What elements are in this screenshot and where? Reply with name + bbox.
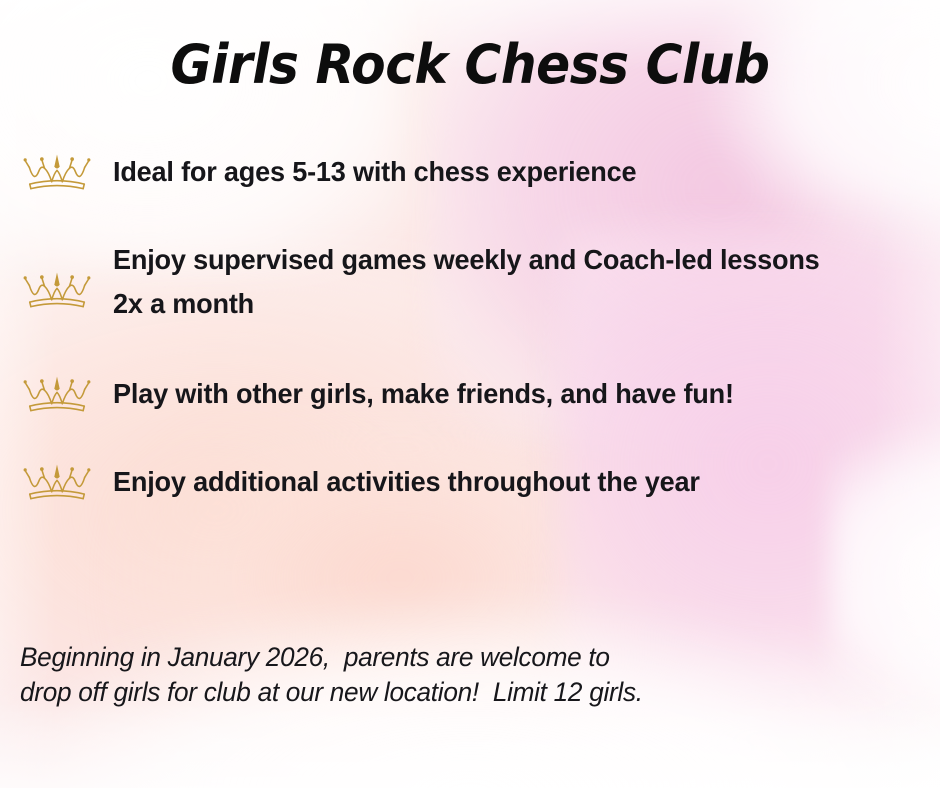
flyer-canvas: Girls Rock Chess Club [0, 0, 940, 788]
crown-icon [0, 372, 113, 422]
crown-icon [0, 460, 113, 510]
list-item: Enjoy supervised games weekly and Coach-… [0, 238, 920, 326]
crown-icon [0, 150, 113, 200]
flyer-content: Girls Rock Chess Club [0, 0, 940, 788]
list-item: Play with other girls, make friends, and… [0, 372, 920, 422]
list-item-label: Enjoy additional activities throughout t… [113, 460, 891, 504]
page-title: Girls Rock Chess Club [33, 33, 907, 96]
crown-icon [0, 268, 113, 318]
list-item-label: Enjoy supervised games weekly and Coach-… [113, 238, 847, 326]
list-item-label: Ideal for ages 5-13 with chess experienc… [113, 150, 891, 194]
list-item: Ideal for ages 5-13 with chess experienc… [0, 150, 920, 200]
list-item: Enjoy additional activities throughout t… [0, 460, 920, 510]
list-item-label: Play with other girls, make friends, and… [113, 372, 891, 416]
footnote-text: Beginning in January 2026, parents are w… [20, 640, 883, 710]
